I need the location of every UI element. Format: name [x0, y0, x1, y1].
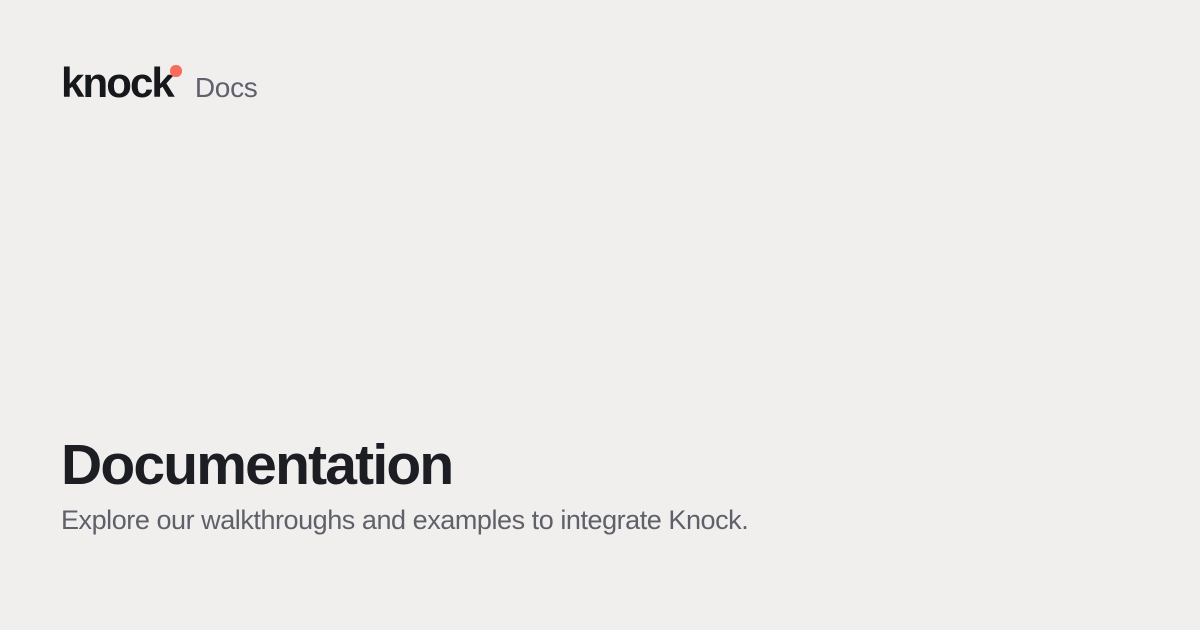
- knock-logo-dot-icon: [170, 65, 182, 77]
- brand-section-label: Docs: [195, 74, 258, 102]
- knock-logo-wordmark: knock: [61, 59, 173, 106]
- og-card: knock Docs Documentation Explore our wal…: [0, 0, 1200, 630]
- hero-block: Documentation Explore our walkthroughs a…: [61, 435, 1139, 538]
- knock-logo[interactable]: knock: [61, 62, 173, 104]
- brand-lockup[interactable]: knock Docs: [61, 62, 1139, 110]
- page-subtitle: Explore our walkthroughs and examples to…: [61, 504, 1139, 538]
- page-title: Documentation: [61, 435, 1139, 495]
